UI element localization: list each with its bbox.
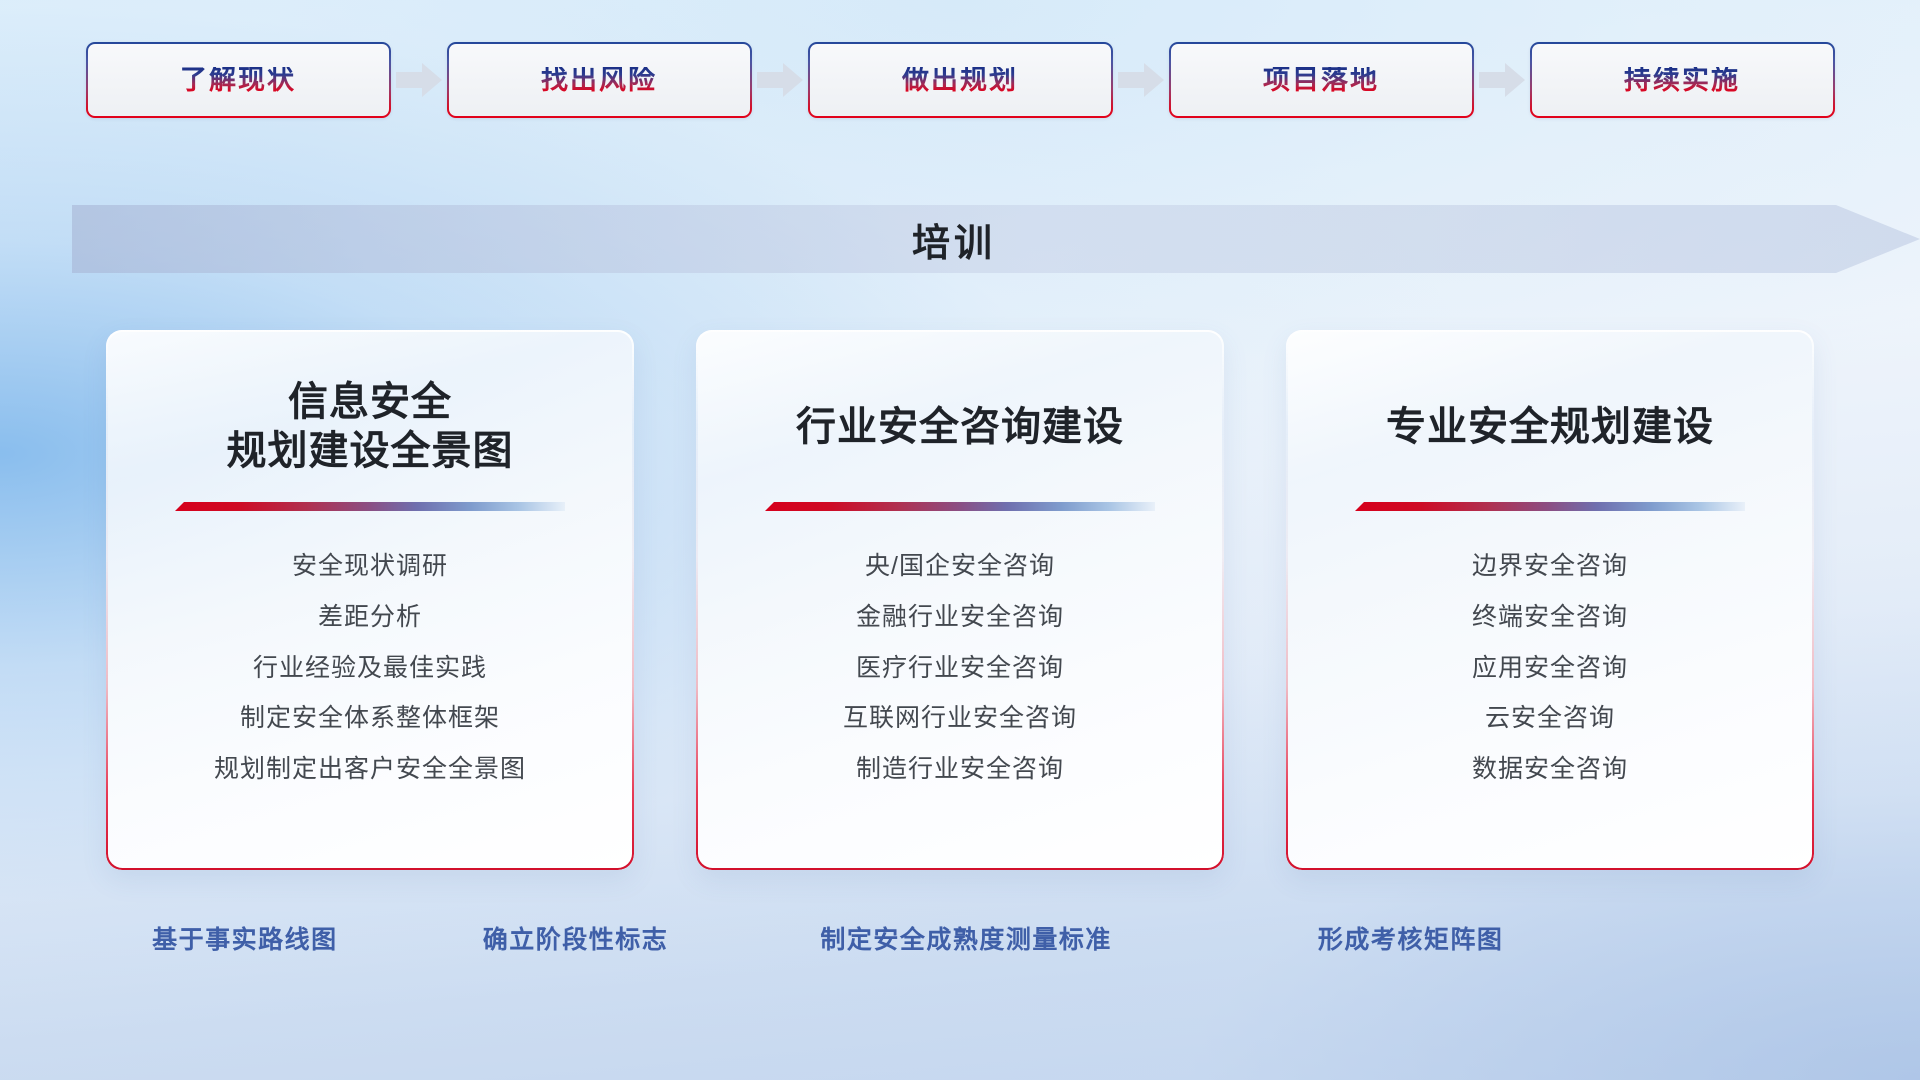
footer-label: 形成考核矩阵图 <box>1318 920 1504 956</box>
flow-step-3[interactable]: 项目落地 <box>1169 42 1474 118</box>
list-item: 应用安全咨询 <box>1472 649 1628 688</box>
card-title-line: 行业安全咨询建设 <box>796 403 1124 452</box>
card-industry-consulting[interactable]: 行业安全咨询建设 央/国企安全咨询 金融行业安全咨询 医疗行业安全咨询 互联网行… <box>696 330 1224 870</box>
footer-label: 制定安全成熟度测量标准 <box>820 920 1112 956</box>
flow-step-0[interactable]: 了解现状 <box>86 42 391 118</box>
list-item: 安全现状调研 <box>292 547 448 586</box>
card-divider <box>175 502 565 511</box>
card-title-line: 信息安全 <box>227 378 514 427</box>
cards-row: 信息安全 规划建设全景图 安全现状调研 差距分析 行业经验及最佳实践 制定安全体… <box>0 330 1920 875</box>
footer-labels-row: 基于事实路线图 确立阶段性标志 制定安全成熟度测量标准 形成考核矩阵图 <box>0 920 1920 980</box>
flow-step-label: 项目落地 <box>1263 67 1379 94</box>
list-item: 差距分析 <box>318 598 422 637</box>
arrow-right-icon <box>1113 60 1169 100</box>
arrow-right-icon <box>1474 60 1530 100</box>
list-item: 规划制定出客户安全全景图 <box>214 750 526 789</box>
card-item-list: 央/国企安全咨询 金融行业安全咨询 医疗行业安全咨询 互联网行业安全咨询 制造行… <box>730 547 1190 789</box>
card-item-list: 边界安全咨询 终端安全咨询 应用安全咨询 云安全咨询 数据安全咨询 <box>1320 547 1780 789</box>
list-item: 互联网行业安全咨询 <box>843 699 1077 738</box>
list-item: 金融行业安全咨询 <box>856 598 1064 637</box>
card-item-list: 安全现状调研 差距分析 行业经验及最佳实践 制定安全体系整体框架 规划制定出客户… <box>140 547 600 789</box>
training-banner: 培训 <box>72 205 1920 273</box>
list-item: 边界安全咨询 <box>1472 547 1628 586</box>
list-item: 央/国企安全咨询 <box>865 547 1055 586</box>
card-title-line: 规划建设全景图 <box>227 427 514 476</box>
card-divider <box>1355 502 1745 511</box>
footer-label: 确立阶段性标志 <box>483 920 669 956</box>
arrow-right-icon <box>752 60 808 100</box>
list-item: 行业经验及最佳实践 <box>253 649 487 688</box>
list-item: 终端安全咨询 <box>1472 598 1628 637</box>
flow-step-label: 找出风险 <box>541 67 657 94</box>
flow-step-label: 持续实施 <box>1624 67 1740 94</box>
arrow-right-icon <box>391 60 447 100</box>
card-divider <box>765 502 1155 511</box>
card-title-line: 专业安全规划建设 <box>1386 403 1714 452</box>
card-title: 专业安全规划建设 <box>1386 378 1714 476</box>
list-item: 制造行业安全咨询 <box>856 750 1064 789</box>
flow-step-label: 做出规划 <box>902 67 1018 94</box>
card-professional-planning[interactable]: 专业安全规划建设 边界安全咨询 终端安全咨询 应用安全咨询 云安全咨询 数据安全… <box>1286 330 1814 870</box>
card-panorama[interactable]: 信息安全 规划建设全景图 安全现状调研 差距分析 行业经验及最佳实践 制定安全体… <box>106 330 634 870</box>
banner-title: 培训 <box>72 205 1836 273</box>
flow-step-2[interactable]: 做出规划 <box>808 42 1113 118</box>
flow-step-label: 了解现状 <box>180 67 296 94</box>
footer-label: 基于事实路线图 <box>152 920 338 956</box>
flow-step-4[interactable]: 持续实施 <box>1530 42 1835 118</box>
list-item: 制定安全体系整体框架 <box>240 699 500 738</box>
process-flow-row: 了解现状 找出风险 做出规划 项目落地 持续实施 <box>0 0 1920 160</box>
list-item: 医疗行业安全咨询 <box>856 649 1064 688</box>
flow-step-1[interactable]: 找出风险 <box>447 42 752 118</box>
list-item: 云安全咨询 <box>1485 699 1615 738</box>
list-item: 数据安全咨询 <box>1472 750 1628 789</box>
card-title: 行业安全咨询建设 <box>796 378 1124 476</box>
card-title: 信息安全 规划建设全景图 <box>227 378 514 476</box>
